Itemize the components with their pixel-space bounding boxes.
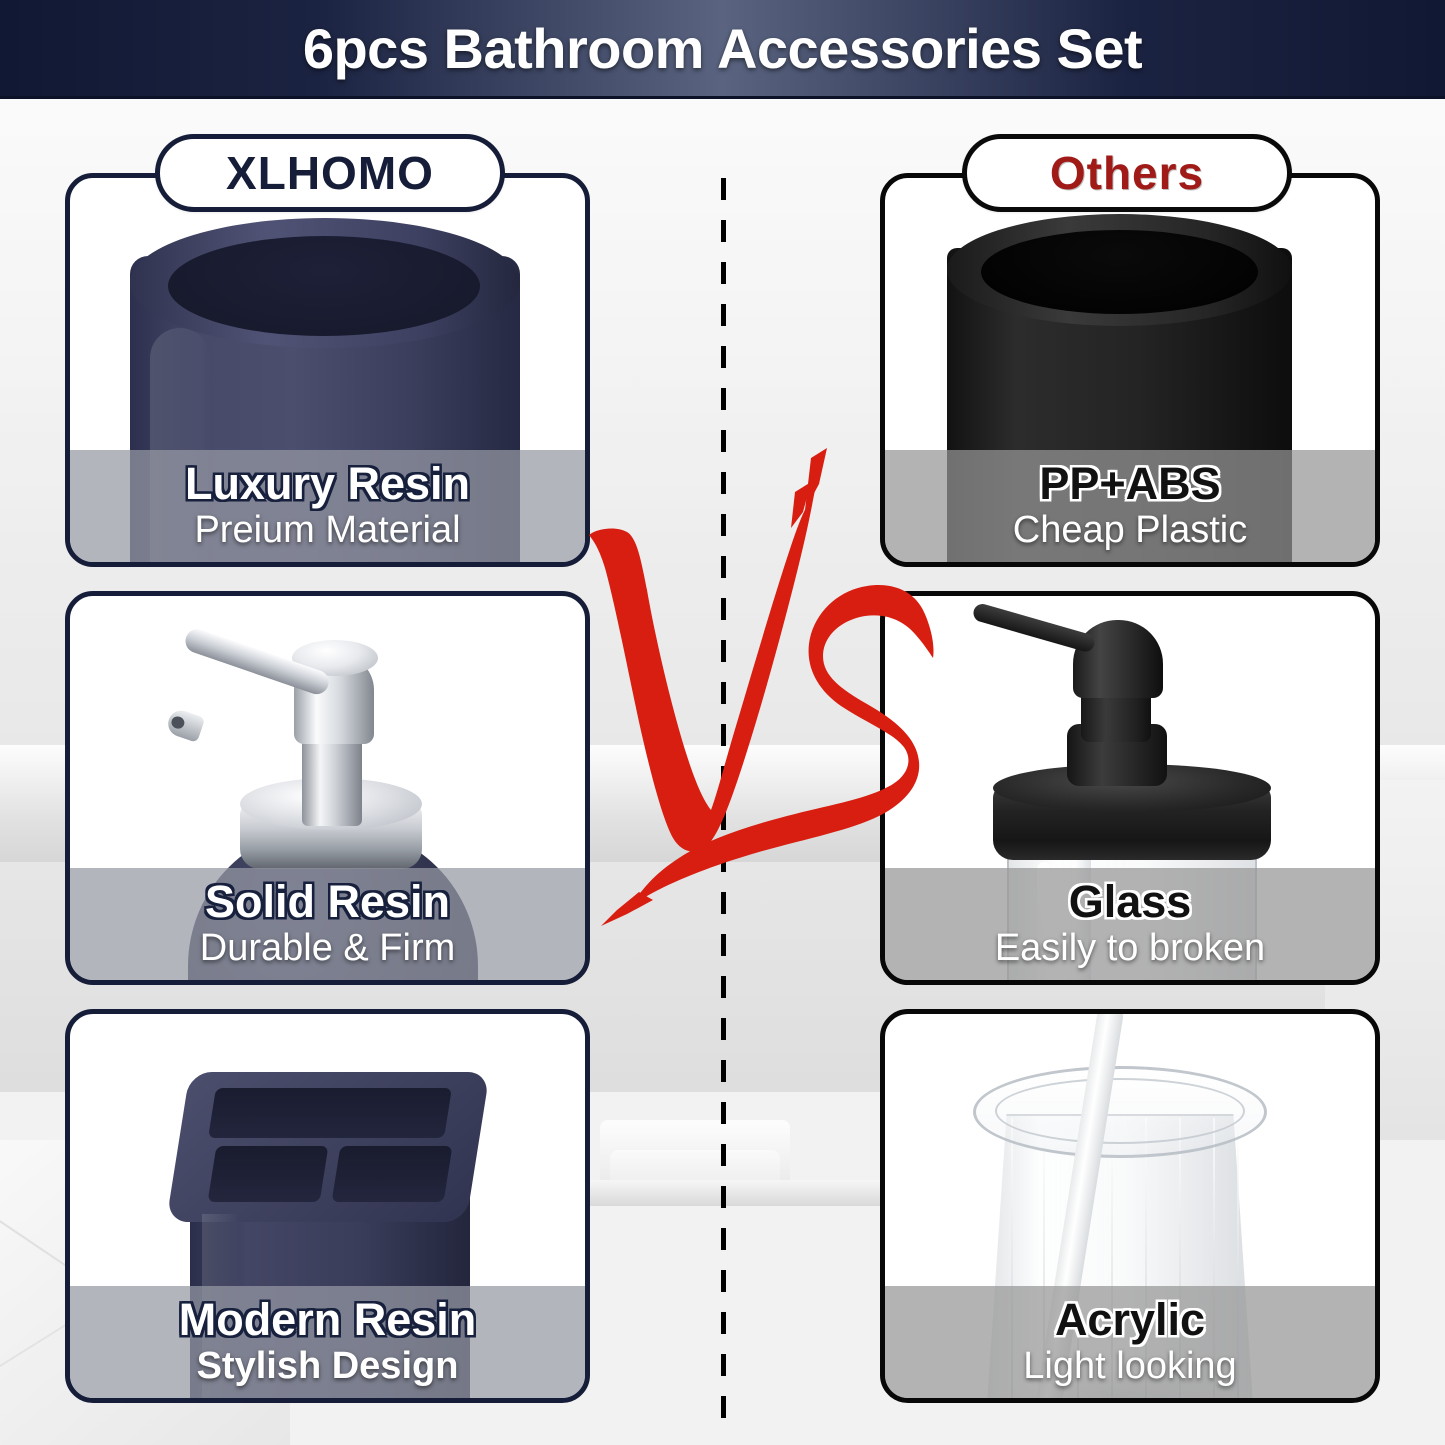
holder-slot-rear bbox=[208, 1088, 452, 1138]
caption-title: Glass bbox=[1069, 879, 1192, 925]
brand-badge-xlhomo: XLHOMO bbox=[155, 134, 505, 212]
header-banner: 6pcs Bathroom Accessories Set bbox=[0, 0, 1445, 99]
jar-pump-spout bbox=[971, 602, 1096, 654]
tumbler-inner-cavity bbox=[168, 236, 480, 336]
caption-bar-left-1: Luxury Resin Preium Material bbox=[70, 450, 585, 562]
brand-badge-others: Others bbox=[962, 134, 1292, 212]
acrylic-rim-inner bbox=[995, 1078, 1245, 1144]
versus-graphic bbox=[583, 440, 943, 985]
caption-subtitle: Cheap Plastic bbox=[1013, 511, 1247, 551]
dispenser-spout-tip bbox=[165, 707, 206, 743]
jar-pump-head bbox=[1073, 620, 1163, 698]
comparison-card-right-2: Glass Easily to broken bbox=[880, 591, 1380, 985]
caption-bar-right-3: Acrylic Light looking bbox=[885, 1286, 1375, 1398]
comparison-card-right-1: PP+ABS Cheap Plastic bbox=[880, 173, 1380, 567]
caption-title: Solid Resin bbox=[205, 879, 450, 925]
comparison-card-left-2: Solid Resin Durable & Firm bbox=[65, 591, 590, 985]
caption-bar-left-3: Modern Resin Stylish Design bbox=[70, 1286, 585, 1398]
holder-slot-left bbox=[208, 1146, 329, 1202]
caption-title: Modern Resin bbox=[179, 1297, 477, 1343]
comparison-card-left-3: Modern Resin Stylish Design bbox=[65, 1009, 590, 1403]
caption-subtitle: Stylish Design bbox=[197, 1347, 459, 1387]
caption-bar-right-2: Glass Easily to broken bbox=[885, 868, 1375, 980]
holder-slot-right bbox=[332, 1146, 453, 1202]
caption-title: Luxury Resin bbox=[185, 461, 470, 507]
caption-bar-left-2: Solid Resin Durable & Firm bbox=[70, 868, 585, 980]
black-tumbler-inner-cavity bbox=[981, 230, 1258, 314]
caption-subtitle: Easily to broken bbox=[995, 929, 1265, 969]
caption-subtitle: Durable & Firm bbox=[200, 929, 456, 969]
caption-title: Acrylic bbox=[1055, 1297, 1205, 1343]
brand-label-left: XLHOMO bbox=[226, 146, 434, 200]
caption-subtitle: Light looking bbox=[1023, 1347, 1236, 1387]
comparison-card-right-3: Acrylic Light looking bbox=[880, 1009, 1380, 1403]
brand-label-right: Others bbox=[1050, 146, 1204, 200]
caption-title: PP+ABS bbox=[1039, 461, 1220, 507]
comparison-card-left-1: Luxury Resin Preium Material bbox=[65, 173, 590, 567]
caption-subtitle: Preium Material bbox=[194, 511, 460, 551]
caption-bar-right-1: PP+ABS Cheap Plastic bbox=[885, 450, 1375, 562]
page-title: 6pcs Bathroom Accessories Set bbox=[303, 16, 1142, 81]
